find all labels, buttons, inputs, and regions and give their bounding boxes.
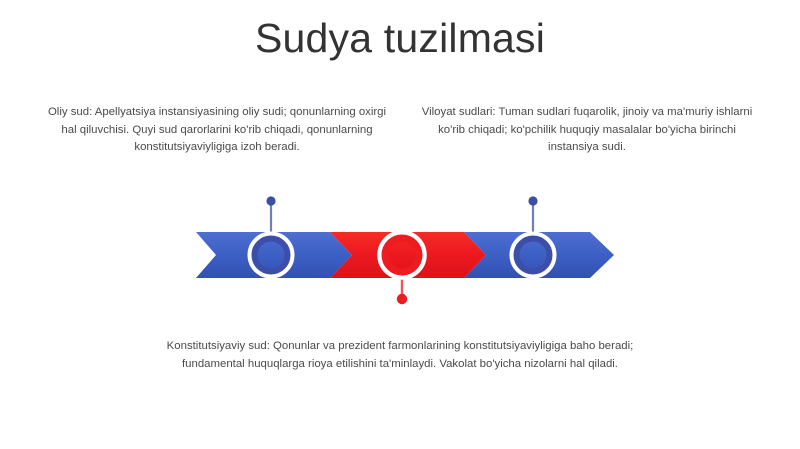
slide-canvas: Sudya tuzilmasi Oliy sud: Apellyatsiya i… [0, 0, 800, 449]
connector-center-dot [397, 294, 407, 304]
page-title: Sudya tuzilmasi [0, 14, 800, 62]
callout-oliy-sud: Oliy sud: Apellyatsiya instansiyasining … [44, 104, 390, 157]
connector-left-dot [266, 196, 275, 205]
callout-viloyat-sudlari: Viloyat sudlari: Tuman sudlari fuqarolik… [414, 104, 760, 157]
chevron-process-diagram [0, 0, 800, 449]
callout-konstitutsiyaviy-sud: Konstitutsiyaviy sud: Qonunlar va prezid… [152, 338, 648, 373]
connector-right-dot [528, 196, 537, 205]
